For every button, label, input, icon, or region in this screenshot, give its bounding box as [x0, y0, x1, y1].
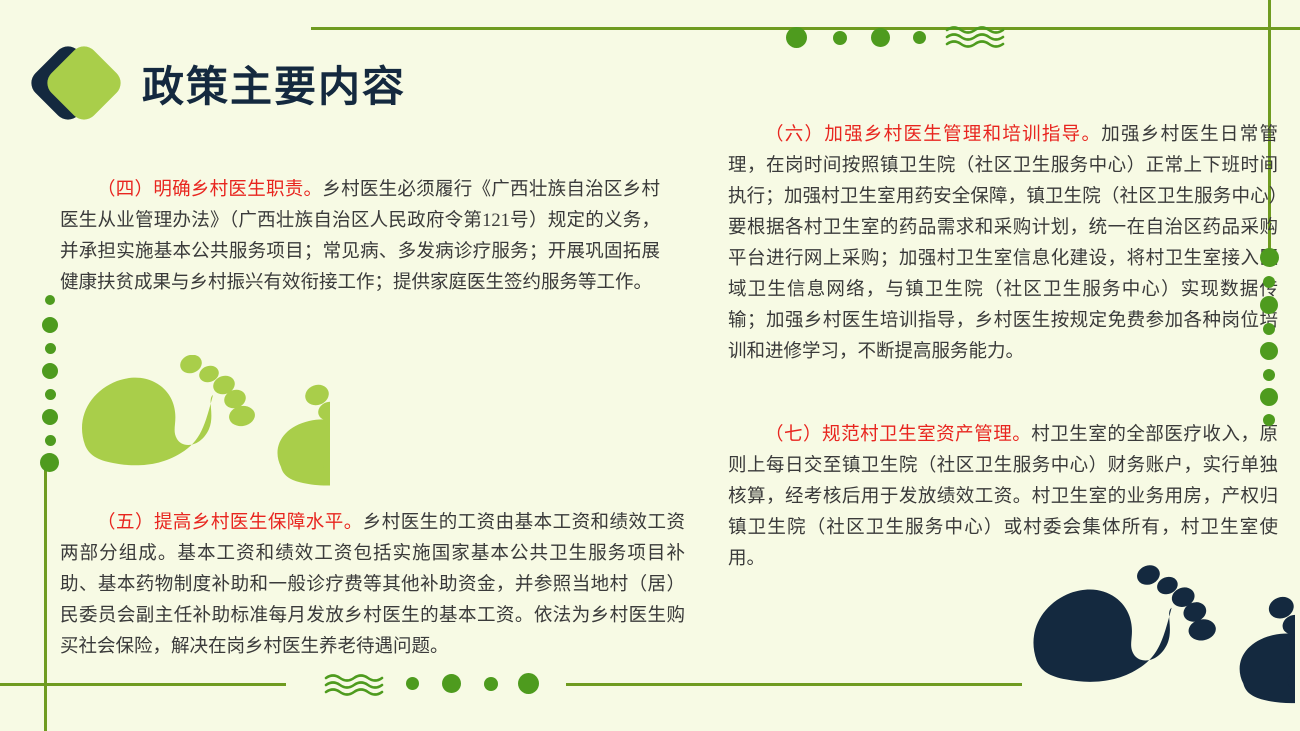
decor-dot	[484, 677, 498, 691]
bottom-wave-icon	[324, 672, 386, 698]
section-seven-lead: （七）规范村卫生室资产管理。	[765, 425, 1031, 445]
section-seven-body: 村卫生室的全部医疗收入，原则上每日交至镇卫生院（社区卫生服务中心）财务账户，实行…	[728, 425, 1278, 569]
left-vertical-rule	[44, 462, 47, 731]
decor-dot	[518, 673, 539, 694]
decor-dot	[1260, 342, 1278, 360]
decor-dot	[871, 28, 890, 47]
decor-dot	[913, 31, 926, 44]
top-rule	[311, 27, 1300, 30]
diamond-logo-icon	[34, 40, 120, 126]
section-five-paragraph: （五）提高乡村医生保障水平。乡村医生的工资由基本工资和绩效工资两部分组成。基本工…	[60, 508, 685, 663]
slide-canvas: 政策主要内容 （四）明确乡村医生职责。乡村医生必须履行《广西壮族自治区乡村医生从…	[0, 0, 1300, 731]
decor-dot	[1260, 296, 1278, 314]
section-four: （四）明确乡村医生职责。乡村医生必须履行《广西壮族自治区乡村医生从业管理办法》（…	[60, 175, 660, 299]
section-five-body: 乡村医生的工资由基本工资和绩效工资两部分组成。基本工资和绩效工资包括实施国家基本…	[60, 513, 685, 657]
decor-dot	[442, 674, 461, 693]
section-four-paragraph: （四）明确乡村医生职责。乡村医生必须履行《广西壮族自治区乡村医生从业管理办法》（…	[60, 175, 660, 299]
section-six-lead: （六）加强乡村医生管理和培训指导。	[765, 125, 1101, 145]
section-five: （五）提高乡村医生保障水平。乡村医生的工资由基本工资和绩效工资两部分组成。基本工…	[60, 508, 685, 663]
decor-dot	[45, 295, 55, 305]
decor-dot	[1260, 388, 1278, 406]
decor-dot	[833, 31, 847, 45]
section-six-paragraph: （六）加强乡村医生管理和培训指导。加强乡村医生日常管理，在岗时间按照镇卫生院（社…	[728, 120, 1278, 368]
decor-dot	[1263, 414, 1275, 426]
decor-dot	[1263, 369, 1275, 381]
top-wave-icon	[945, 24, 1007, 50]
decor-dot	[1260, 248, 1279, 267]
decor-dot	[45, 343, 56, 354]
section-six: （六）加强乡村医生管理和培训指导。加强乡村医生日常管理，在岗时间按照镇卫生院（社…	[728, 120, 1278, 368]
decor-dot	[406, 677, 419, 690]
slide-header: 政策主要内容	[34, 40, 406, 126]
section-six-body: 加强乡村医生日常管理，在岗时间按照镇卫生院（社区卫生服务中心）正常上下班时间执行…	[728, 125, 1278, 362]
decor-dot	[1263, 323, 1275, 335]
bottom-rule-right	[566, 683, 1022, 686]
footprints-navy-icon	[1005, 552, 1295, 731]
section-four-lead: （四）明确乡村医生职责。	[97, 180, 322, 200]
decor-dot	[42, 317, 58, 333]
footprints-light-green-icon	[55, 355, 330, 500]
decor-dot	[786, 27, 807, 48]
bottom-rule-left	[0, 683, 286, 686]
decor-dot	[1263, 276, 1275, 288]
page-title: 政策主要内容	[142, 53, 406, 114]
section-five-lead: （五）提高乡村医生保障水平。	[97, 513, 363, 533]
